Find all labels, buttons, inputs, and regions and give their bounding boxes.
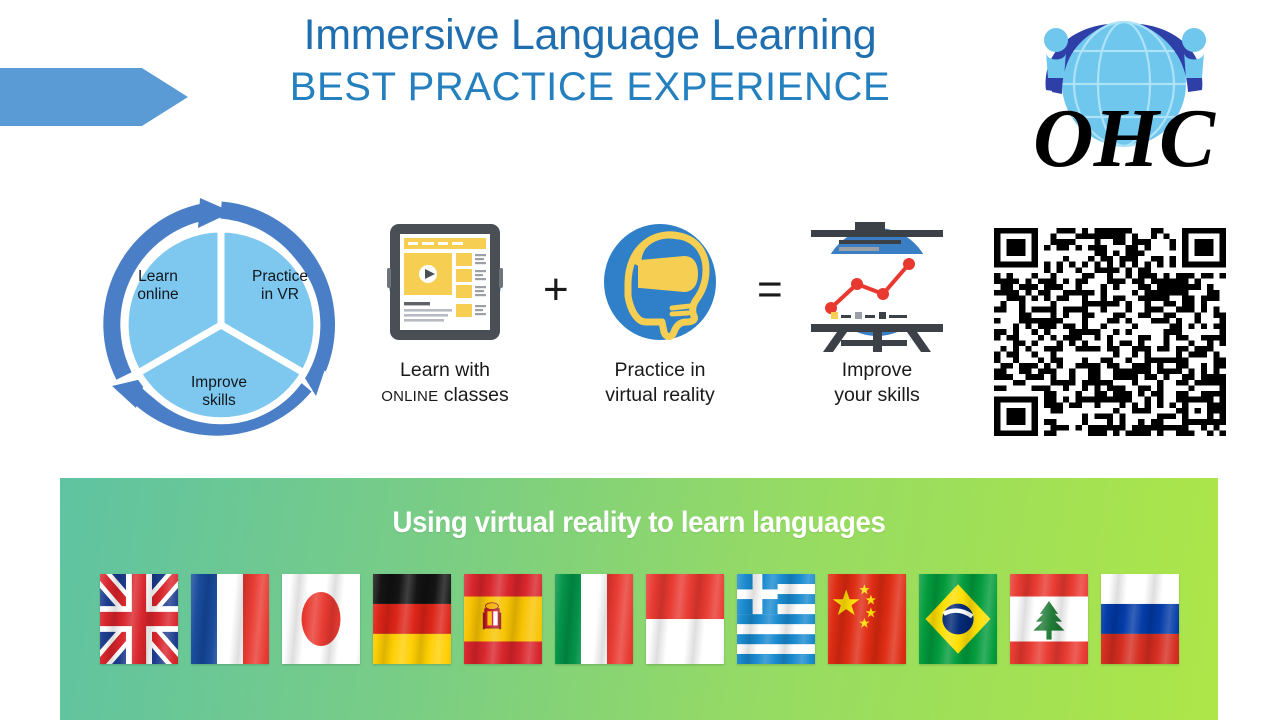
caption-learn-online: Learn with ONLINE classes [365, 358, 525, 409]
vr-visor [640, 256, 698, 292]
tablet-video-icon [365, 212, 525, 352]
equation-item-improve-skills: Improve your skills [797, 212, 957, 408]
banner-title: Using virtual reality to learn languages [106, 506, 1171, 540]
caption-online-smallcaps: ONLINE [381, 388, 438, 405]
spain-coat-of-arms [482, 603, 500, 629]
equation-item-practice-vr: Practice in virtual reality [580, 212, 740, 408]
qr-code-graphic[interactable] [994, 228, 1226, 436]
slide-header: Immersive Language Learning BEST PRACTIC… [0, 0, 1280, 185]
flag-russia [1101, 574, 1179, 664]
vr-headset-head-icon [580, 212, 740, 352]
cycle-label-improve-skills: Improve skills [164, 374, 274, 410]
flag-united-kingdom [100, 574, 178, 664]
cycle-graphic [92, 196, 350, 454]
ohc-wordmark: OHC [1033, 92, 1216, 184]
logo-head-right [1182, 28, 1206, 52]
title-primary: Immersive Language Learning [180, 8, 1000, 62]
easel-bottom-rail [811, 324, 943, 332]
flag-row [60, 574, 1218, 664]
title-secondary: BEST PRACTICE EXPERIENCE [180, 62, 1000, 112]
page-title: Immersive Language Learning BEST PRACTIC… [180, 8, 1000, 112]
flag-japan [282, 574, 360, 664]
caption-practice-vr: Practice in virtual reality [580, 358, 740, 408]
caption-classes: classes [444, 384, 509, 406]
value-equation-row: Learn with ONLINE classes + [365, 212, 965, 442]
flag-spain [464, 574, 542, 664]
languages-banner: Using virtual reality to learn languages [60, 478, 1218, 720]
flag-brazil [919, 574, 997, 664]
flag-china [828, 574, 906, 664]
equals-operator: = [757, 268, 783, 312]
equation-item-learn-online: Learn with ONLINE classes [365, 212, 525, 409]
chevron-accent-shape [0, 68, 188, 126]
ohc-logo: OHC [1012, 6, 1237, 184]
easel-top-rail [811, 230, 943, 237]
flag-lebanon [1010, 574, 1088, 664]
cycle-label-practice-vr: Practice in VR [232, 268, 328, 304]
flag-france [191, 574, 269, 664]
flag-indonesia [646, 574, 724, 664]
flag-germany [373, 574, 451, 664]
cycle-label-learn-online: Learn online [110, 268, 206, 304]
caption-improve-skills: Improve your skills [797, 358, 957, 408]
flag-italy [555, 574, 633, 664]
plus-operator: + [543, 268, 569, 312]
qr-code[interactable] [994, 228, 1226, 436]
ohc-logo-graphic: OHC [1012, 6, 1237, 184]
learning-cycle-diagram: Learn online Practice in VR Improve skil… [92, 196, 350, 454]
easel-line-chart-icon [797, 212, 957, 352]
logo-head-left [1044, 28, 1068, 52]
flag-greece [737, 574, 815, 664]
